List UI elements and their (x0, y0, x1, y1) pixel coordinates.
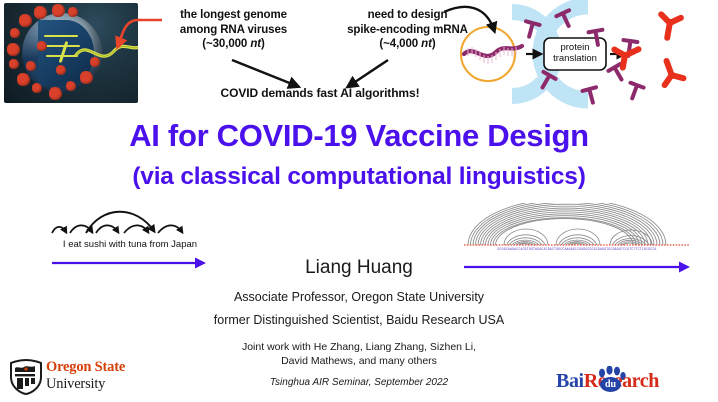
parse-arc (124, 225, 148, 233)
spike-protein (90, 57, 100, 67)
oregon-state-university-logo: Oregon State University (6, 358, 156, 398)
banner-text-genome-length: the longest genome among RNA viruses (~3… (146, 8, 321, 52)
spike-protein (56, 65, 66, 75)
spike-protein (49, 87, 62, 100)
nt-unit: nt (250, 38, 261, 50)
banner-left-line1: the longest genome (146, 8, 321, 23)
rna-arc-group-hairpin-1 (504, 229, 548, 245)
baidu-research-logo: BaiResearch du (556, 366, 712, 398)
banner-conclusion-text: COVID demands fast AI algorithms! (175, 86, 465, 101)
osu-line-1: Oregon State (46, 359, 125, 376)
parse-arc-long (86, 212, 154, 233)
spike-protein (37, 41, 47, 51)
genome-length-value: ~30,000 (206, 38, 247, 50)
mrna-strand (464, 46, 522, 56)
page-title: AI for COVID-19 Vaccine Design (0, 118, 718, 154)
author-name: Liang Huang (0, 256, 718, 279)
spike-protein (34, 6, 47, 19)
banner-left-line2: among RNA viruses (146, 23, 321, 38)
spike-protein (32, 83, 42, 93)
title-block: AI for COVID-19 Vaccine Design (via clas… (0, 118, 718, 192)
author-affiliation-primary: Associate Professor, Oregon State Univer… (0, 289, 718, 305)
credit-line-1: Joint work with He Zhang, Liang Zhang, S… (0, 341, 718, 355)
spike-protein (17, 73, 30, 86)
spike-protein (80, 71, 93, 84)
protein-translation-label-line1: protein (560, 42, 589, 53)
mrna-length-value: ~4,000 (383, 38, 418, 50)
rna-arc-group-hairpin-2 (556, 229, 600, 245)
virus-rna-strand (44, 35, 78, 37)
arrow-right-to-conclusion (349, 60, 388, 86)
spike-protein (26, 61, 36, 71)
mrna-translation-cartoon: protein translation (440, 0, 718, 112)
arrow-left-to-conclusion (232, 60, 297, 86)
spike-protein (19, 14, 32, 27)
author-affiliation-former: former Distinguished Scientist, Baidu Re… (0, 312, 718, 328)
page-subtitle: (via classical computational linguistics… (0, 162, 718, 192)
spike-protein (10, 28, 20, 38)
osu-wordmark: Oregon State University (46, 359, 125, 393)
banner-left-line3: (~30,000 nt) (146, 37, 321, 52)
rna-sequence-text: GCGGCAAGACCACGTGGTAGACACGACTGGCCAAAGGCCG… (460, 247, 694, 251)
baidu-du-text: du (600, 377, 621, 392)
baidu-bai-text: Bai (556, 370, 584, 392)
osu-shield-icon (8, 359, 44, 395)
spike-protein (68, 7, 78, 17)
top-banner: the longest genome among RNA viruses (~3… (0, 0, 718, 112)
osu-line-2: University (46, 376, 125, 393)
parse-arc (52, 227, 66, 233)
protein-translation-label-line2: translation (553, 53, 597, 64)
parse-arc (158, 225, 182, 233)
spike-protein (9, 59, 19, 69)
spike-protein (52, 4, 65, 17)
parse-sentence-text: I eat sushi with tuna from Japan (40, 239, 220, 250)
author-block: Liang Huang Associate Professor, Oregon … (0, 256, 718, 328)
nt-unit: nt (421, 38, 432, 50)
baidu-research-text: Research (584, 370, 659, 392)
spike-protein (7, 43, 20, 56)
spike-protein (66, 81, 76, 91)
parse-arc (96, 225, 118, 233)
antibody-red-group (614, 14, 683, 85)
